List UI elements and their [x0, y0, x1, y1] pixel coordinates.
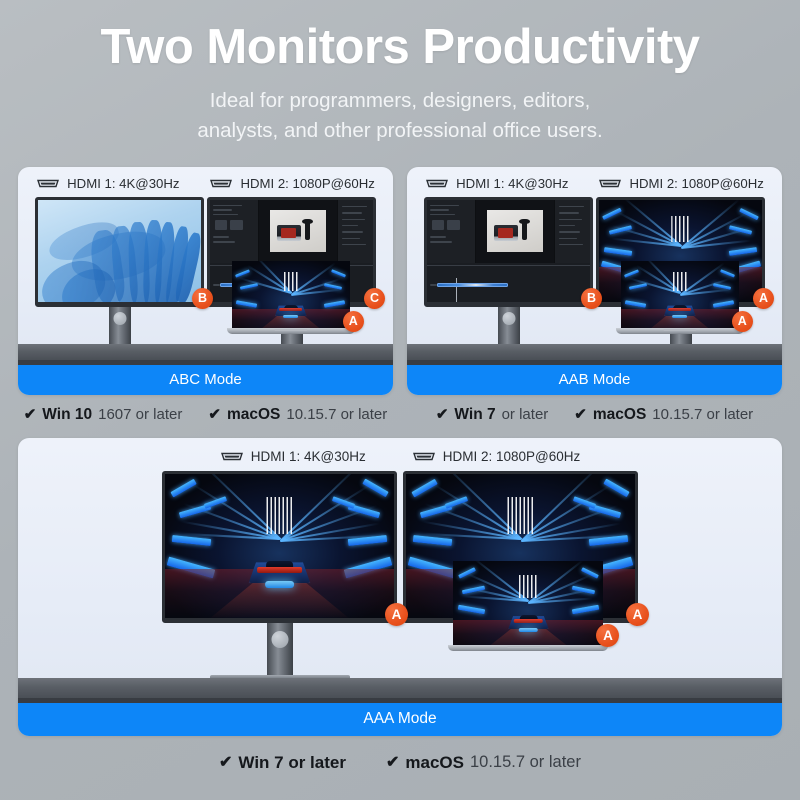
hdmi-label-bar: HDMI 1: 4K@30Hz HDMI 2: 1080P@60Hz: [18, 167, 393, 197]
hdmi-port-1: HDMI 1: 4K@30Hz: [36, 176, 179, 191]
video-editor-art: [427, 200, 590, 302]
os-version: or later: [502, 406, 549, 423]
badge-laptop: A: [343, 311, 364, 332]
mode-label-aaa: AAA Mode: [18, 703, 782, 736]
os-version: 10.15.7 or later: [470, 753, 581, 772]
hdmi-port-2-label: HDMI 2: 1080P@60Hz: [629, 176, 763, 191]
laptop-base: [616, 328, 744, 334]
desk-surface: [18, 678, 782, 703]
badge-monitor-right: A: [626, 603, 649, 626]
hdmi-connector-icon: [209, 178, 233, 189]
mode-label-abc: ABC Mode: [18, 365, 393, 395]
os-name: macOS: [593, 406, 646, 424]
monitor-left-screen: [35, 197, 204, 307]
subtitle-line-2: analysts, and other professional office …: [0, 116, 800, 145]
os-name: Win 7: [454, 406, 495, 424]
mode-panel-abc: HDMI 1: 4K@30Hz HDMI 2: 1080P@60Hz: [18, 167, 393, 395]
hdmi-port-1-label: HDMI 1: 4K@30Hz: [67, 176, 179, 191]
badge-monitor-left: B: [192, 288, 213, 309]
hdmi-label-bar: HDMI 1: 4K@30Hz HDMI 2: 1080P@60Hz: [407, 167, 782, 197]
desk-scene-abc: B: [18, 197, 393, 365]
windows-wallpaper-art: [38, 200, 201, 302]
badge-monitor-left: B: [581, 288, 602, 309]
os-name: macOS: [405, 753, 464, 773]
mode-panels-row: HDMI 1: 4K@30Hz HDMI 2: 1080P@60Hz: [0, 167, 800, 395]
hdmi-connector-icon: [598, 178, 622, 189]
check-icon: ✔: [574, 407, 587, 422]
os-name: Win 10: [42, 406, 92, 424]
badge-monitor-right: C: [364, 288, 385, 309]
hdmi-port-2-label: HDMI 2: 1080P@60Hz: [240, 176, 374, 191]
hdmi-port-1-label: HDMI 1: 4K@30Hz: [251, 449, 366, 464]
laptop-screen: [621, 261, 739, 324]
page-title: Two Monitors Productivity: [0, 22, 800, 73]
stand-neck: [109, 307, 131, 345]
hdmi-port-1: HDMI 1: 4K@30Hz: [425, 176, 568, 191]
os-rows-top: ✔ Win 10 1607 or later ✔ macOS 10.15.7 o…: [0, 395, 800, 424]
laptop-base: [448, 645, 608, 651]
badge-laptop: A: [596, 624, 619, 647]
hdmi-connector-icon: [412, 451, 436, 462]
hdmi-connector-icon: [425, 178, 449, 189]
os-item-macos: ✔ macOS 10.15.7 or later: [208, 406, 387, 424]
monitor-left-screen: [424, 197, 593, 307]
monitor-group: A: [18, 471, 782, 623]
os-item-macos: ✔ macOS 10.15.7 or later: [574, 406, 753, 424]
laptop-screen: [453, 561, 603, 641]
badge-monitor-right: A: [753, 288, 774, 309]
os-version: 10.15.7 or later: [652, 406, 753, 423]
hdmi-port-2: HDMI 2: 1080P@60Hz: [598, 176, 763, 191]
neon-racing-tunnel-art: [621, 261, 739, 324]
neon-racing-tunnel-art: [453, 561, 603, 641]
desk-scene-aaa: A: [18, 471, 782, 703]
page-subtitle: Ideal for programmers, designers, editor…: [0, 86, 800, 144]
os-compat-abc: ✔ Win 10 1607 or later ✔ macOS 10.15.7 o…: [18, 406, 393, 424]
check-icon: ✔: [208, 407, 221, 422]
hdmi-port-2-label: HDMI 2: 1080P@60Hz: [443, 449, 581, 464]
laptop: A: [232, 261, 350, 334]
subtitle-line-1: Ideal for programmers, designers, editor…: [0, 86, 800, 115]
mode-panel-aab: HDMI 1: 4K@30Hz HDMI 2: 1080P@60Hz: [407, 167, 782, 395]
neon-racing-tunnel-art: [232, 261, 350, 324]
page-header: Two Monitors Productivity Ideal for prog…: [0, 0, 800, 145]
hdmi-port-1-label: HDMI 1: 4K@30Hz: [456, 176, 568, 191]
hdmi-port-2: HDMI 2: 1080P@60Hz: [209, 176, 374, 191]
os-compat-aab: ✔ Win 7 or later ✔ macOS 10.15.7 or late…: [407, 406, 782, 424]
os-name: Win 7 or later: [238, 753, 346, 773]
monitor-left-screen: [162, 471, 397, 623]
desk-surface: [407, 344, 782, 365]
check-icon: ✔: [219, 755, 232, 771]
hdmi-connector-icon: [36, 178, 60, 189]
stand-neck: [267, 623, 293, 675]
desk-scene-aab: B: [407, 197, 782, 365]
mode-label-aab: AAB Mode: [407, 365, 782, 395]
monitor-left: B: [424, 197, 593, 307]
os-name: macOS: [227, 406, 280, 424]
mode-panel-aaa: HDMI 1: 4K@30Hz HDMI 2: 1080P@60Hz: [18, 438, 782, 736]
check-icon: ✔: [24, 407, 37, 422]
os-compat-aaa: ✔ Win 7 or later ✔ macOS 10.15.7 or late…: [0, 753, 800, 773]
os-version: 1607 or later: [98, 406, 182, 423]
desk-surface: [18, 344, 393, 365]
laptop-screen: [232, 261, 350, 324]
os-item-macos: ✔ macOS 10.15.7 or later: [386, 753, 581, 773]
os-item-windows: ✔ Win 7 or later: [219, 753, 352, 773]
monitor-left: A: [162, 471, 397, 623]
laptop: A: [453, 561, 603, 651]
monitor-left: B: [35, 197, 204, 307]
monitor-stand: [210, 623, 350, 683]
os-version: 10.15.7 or later: [286, 406, 387, 423]
os-item-windows: ✔ Win 10 1607 or later: [24, 406, 183, 424]
os-item-windows: ✔ Win 7 or later: [436, 406, 548, 424]
hdmi-port-1: HDMI 1: 4K@30Hz: [220, 449, 366, 464]
badge-laptop: A: [732, 311, 753, 332]
hdmi-port-2: HDMI 2: 1080P@60Hz: [412, 449, 581, 464]
stand-neck: [498, 307, 520, 345]
hdmi-label-bar: HDMI 1: 4K@30Hz HDMI 2: 1080P@60Hz: [18, 438, 782, 471]
check-icon: ✔: [386, 755, 399, 771]
laptop-base: [227, 328, 355, 334]
check-icon: ✔: [436, 407, 449, 422]
laptop: A: [621, 261, 739, 334]
badge-monitor-left: A: [385, 603, 408, 626]
neon-racing-tunnel-art: [165, 474, 394, 618]
hdmi-connector-icon: [220, 451, 244, 462]
